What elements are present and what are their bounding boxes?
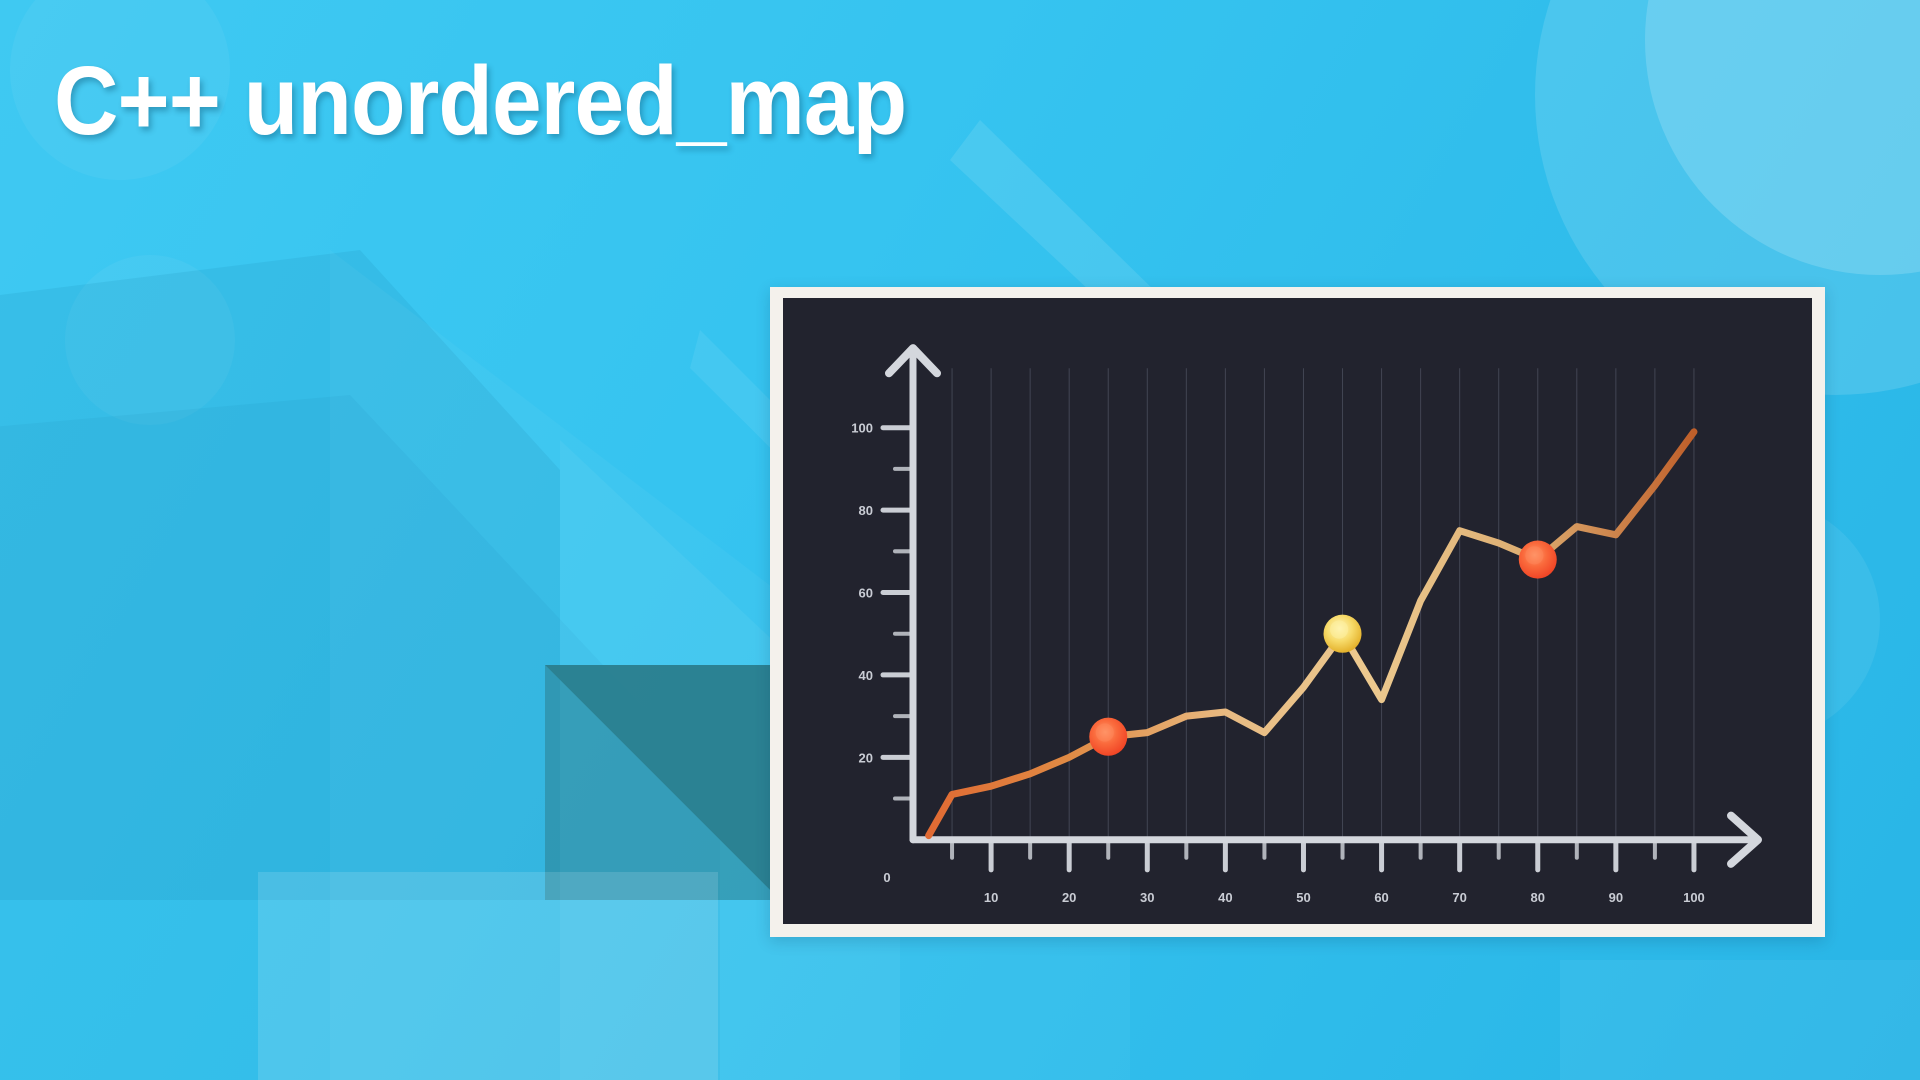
series-line-series-1 <box>929 432 1694 836</box>
y-axis-tick-label: 20 <box>859 750 873 765</box>
page-title: C++ unordered_map <box>54 52 906 151</box>
slide-canvas: C++ unordered_map <box>0 0 1920 1080</box>
y-axis-tick-label: 100 <box>851 421 873 436</box>
chart-card: 20406080100 0102030405060708090100 <box>770 287 1825 937</box>
decor-rect-bottomright <box>1560 960 1920 1080</box>
x-axis-ticks <box>952 840 1694 870</box>
chart-axes <box>889 348 1758 864</box>
y-axis-tick-label: 80 <box>859 503 873 518</box>
y-axis-tick-label: 60 <box>859 586 873 601</box>
x-axis-tick-label: 0 <box>883 870 890 885</box>
data-line <box>929 432 1694 836</box>
decor-rect-bottomleft <box>258 872 718 1080</box>
y-axis-ticks <box>883 428 913 799</box>
y-axis-labels: 20406080100 <box>851 421 873 766</box>
x-axis-tick-label: 70 <box>1452 890 1466 905</box>
x-axis-tick-label: 80 <box>1531 890 1545 905</box>
x-axis-tick-label: 20 <box>1062 890 1076 905</box>
x-axis-tick-label: 90 <box>1609 890 1623 905</box>
x-axis-tick-label: 10 <box>984 890 998 905</box>
line-chart: 20406080100 0102030405060708090100 <box>783 298 1812 924</box>
x-axis-labels: 0102030405060708090100 <box>883 870 1704 905</box>
marker-red-1-highlight <box>1096 723 1114 741</box>
chart-gridlines <box>952 368 1694 840</box>
marker-red-2-highlight <box>1525 546 1543 564</box>
marker-yellow-highlight <box>1330 620 1348 638</box>
x-axis-tick-label: 100 <box>1683 890 1705 905</box>
x-axis-tick-label: 60 <box>1374 890 1388 905</box>
x-axis-tick-label: 40 <box>1218 890 1232 905</box>
data-markers <box>1089 540 1557 755</box>
x-axis-tick-label: 50 <box>1296 890 1310 905</box>
chart-panel: 20406080100 0102030405060708090100 <box>783 298 1812 924</box>
x-axis-tick-label: 30 <box>1140 890 1154 905</box>
y-axis-tick-label: 40 <box>859 668 873 683</box>
